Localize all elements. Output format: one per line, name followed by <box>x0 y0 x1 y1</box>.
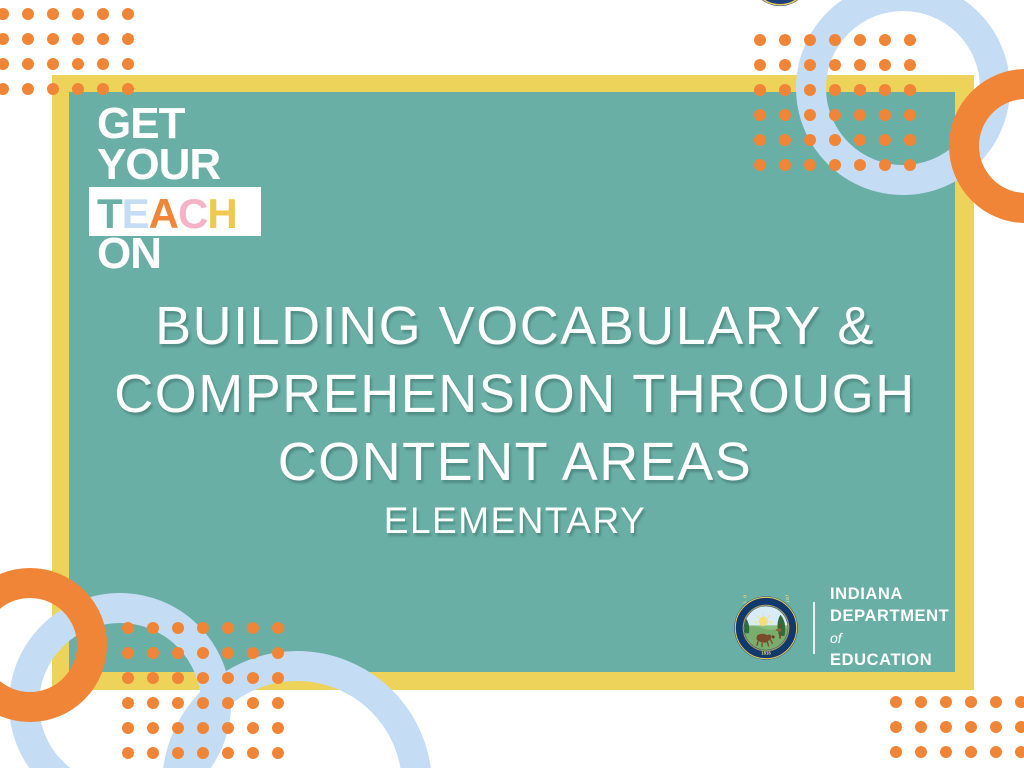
slide-canvas: GET YOUR TEACH ON BUILDING VOCABULARY & … <box>0 0 1024 768</box>
slide-content: GET YOUR TEACH ON BUILDING VOCABULARY & … <box>0 0 1024 768</box>
brand-letter-h: H <box>207 190 236 237</box>
idoe-word-of: of <box>830 630 842 646</box>
idoe-logo-text: INDIANA DEPARTMENT of EDUCATION <box>830 584 949 672</box>
idoe-logo: SEAL OF THE STATE OF INDIANA 1816 INDIAN… <box>733 592 933 664</box>
idoe-line-education: EDUCATION <box>830 650 949 672</box>
indiana-state-seal-icon: SEAL OF THE STATE OF INDIANA 1816 <box>733 595 799 661</box>
brand-letter-c: C <box>178 190 207 237</box>
brand-logo-line-get: GET <box>97 104 184 144</box>
brand-logo: GET YOUR TEACH ON <box>97 104 277 279</box>
brand-logo-line-on: ON <box>97 234 161 274</box>
idoe-word-department: DEPARTMENT <box>830 607 949 625</box>
idoe-line-department: DEPARTMENT of <box>830 606 949 650</box>
seal-year-text: 1816 <box>761 650 771 655</box>
slide-subtitle: ELEMENTARY <box>90 500 940 542</box>
idoe-logo-divider <box>813 602 815 654</box>
slide-title: BUILDING VOCABULARY & COMPREHENSION THRO… <box>90 292 940 496</box>
title-block: BUILDING VOCABULARY & COMPREHENSION THRO… <box>90 292 940 542</box>
idoe-line-indiana: INDIANA <box>830 584 949 606</box>
brand-logo-line-your: YOUR <box>97 145 220 185</box>
